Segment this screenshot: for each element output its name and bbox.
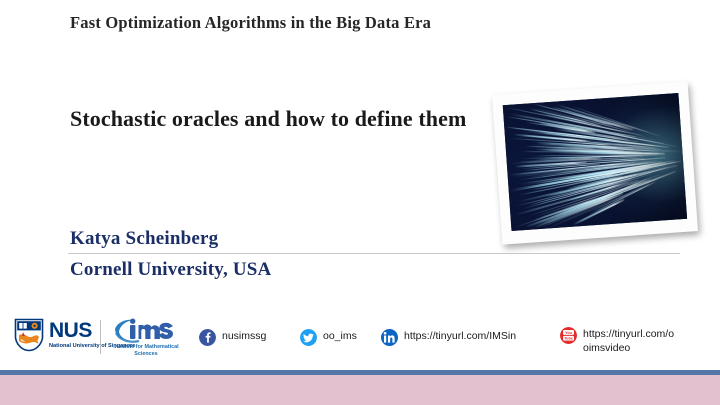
linkedin-url: https://tinyurl.com/IMSin [404, 330, 516, 344]
ims-logo: Institute for Mathematical Sciences [110, 317, 182, 359]
youtube-url: https://tinyurl.com/o oimsvideo [583, 328, 674, 355]
facebook-handle: nusimssg [222, 330, 266, 344]
svg-text:Tube: Tube [564, 337, 573, 341]
social-link-linkedin[interactable]: https://tinyurl.com/IMSin [381, 329, 516, 346]
photo-frame [492, 81, 698, 244]
speaker-name: Katya Scheinberg [70, 228, 218, 250]
photo-vignette [503, 93, 687, 231]
ims-subtitle: Institute for Mathematical Sciences [110, 344, 182, 359]
title-photo [492, 81, 698, 244]
bottom-pink-band [0, 375, 720, 405]
page-title: Stochastic oracles and how to define the… [70, 104, 470, 134]
ims-wordmark-icon [113, 317, 179, 343]
social-link-twitter[interactable]: oo_ims [300, 329, 357, 346]
logo-divider [100, 320, 101, 354]
linkedin-icon[interactable] [381, 329, 398, 346]
facebook-icon[interactable] [199, 329, 216, 346]
social-link-facebook[interactable]: nusimssg [199, 329, 266, 346]
speaker-divider [68, 253, 680, 254]
presentation-slide: Fast Optimization Algorithms in the Big … [0, 0, 720, 405]
binary-data-image [503, 93, 687, 231]
footer-bar: NUS National University of Singapore Ins… [0, 312, 720, 370]
twitter-handle: oo_ims [323, 330, 357, 344]
svg-text:You: You [565, 331, 572, 335]
nus-crest-icon [14, 318, 44, 352]
youtube-icon[interactable]: You Tube [560, 327, 577, 344]
event-header: Fast Optimization Algorithms in the Big … [70, 13, 431, 33]
speaker-affiliation: Cornell University, USA [70, 259, 271, 281]
social-link-youtube[interactable]: You Tube https://tinyurl.com/o oimsvideo [560, 327, 674, 355]
twitter-icon[interactable] [300, 329, 317, 346]
